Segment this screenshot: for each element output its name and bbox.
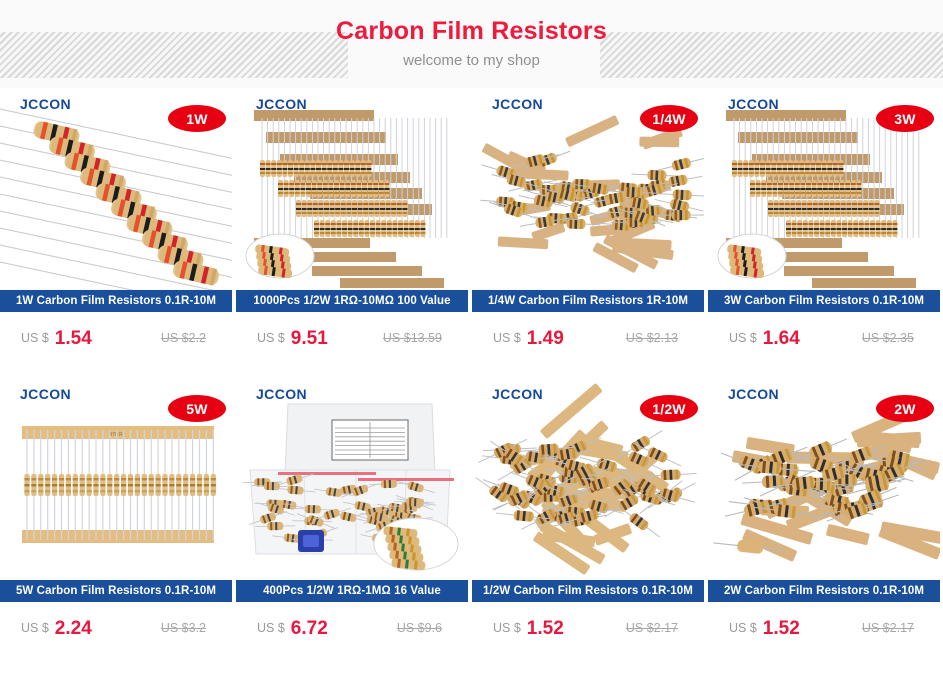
currency-label: US $ (493, 622, 521, 635)
currency-label: US $ (257, 622, 285, 635)
currency-label: US $ (729, 622, 757, 635)
product-card[interactable]: 470 RJCCON5W5W Carbon Film Resistors 0.1… (0, 378, 232, 655)
original-price: US $2.13 (626, 332, 678, 345)
power-rating-badge: 2W (876, 395, 934, 422)
power-rating-badge: 1W (168, 105, 226, 132)
original-price: US $2.35 (862, 332, 914, 345)
current-price: 9.51 (291, 329, 328, 348)
brand-logo: JCCON (492, 96, 543, 112)
currency-label: US $ (493, 332, 521, 345)
current-price: 1.49 (527, 329, 564, 348)
currency-label: US $ (257, 332, 285, 345)
brand-logo: JCCON (492, 386, 543, 402)
original-price: US $2.2 (161, 332, 206, 345)
product-grid: JCCON1W1W Carbon Film Resistors 0.1R-10M… (0, 88, 943, 655)
power-rating-badge: 1/4W (640, 105, 698, 132)
product-title: 1/2W Carbon Film Resistors 0.1R-10M (472, 580, 704, 602)
power-rating-badge: 1/2W (640, 395, 698, 422)
price-row: US $1.54US $2.2 (0, 312, 232, 365)
product-card[interactable]: JCCON1/4W1/4W Carbon Film Resistors 1R-1… (472, 88, 704, 365)
original-price: US $2.17 (626, 622, 678, 635)
brand-logo: JCCON (20, 386, 71, 402)
price-row: US $1.49US $2.13 (472, 312, 704, 365)
current-price: 1.64 (763, 329, 800, 348)
page-title: Carbon Film Resistors (0, 17, 943, 46)
brand-logo: JCCON (256, 96, 307, 112)
price-row: US $9.51US $13.59 (236, 312, 468, 365)
product-card[interactable]: JCCON1000Pcs 1/2W 1RΩ-10MΩ 100 ValueUS $… (236, 88, 468, 365)
price-row: US $1.64US $2.35 (708, 312, 940, 365)
current-price: 1.52 (763, 619, 800, 638)
current-price: 1.54 (55, 329, 92, 348)
original-price: US $3.2 (161, 622, 206, 635)
product-image[interactable] (236, 88, 468, 290)
current-price: 2.24 (55, 619, 92, 638)
brand-logo: JCCON (20, 96, 71, 112)
currency-label: US $ (21, 622, 49, 635)
brand-logo: JCCON (256, 386, 307, 402)
current-price: 6.72 (291, 619, 328, 638)
product-card[interactable]: JCCON1/2W1/2W Carbon Film Resistors 0.1R… (472, 378, 704, 655)
original-price: US $2.17 (862, 622, 914, 635)
product-title: 1/4W Carbon Film Resistors 1R-10M (472, 290, 704, 312)
power-rating-badge: 5W (168, 395, 226, 422)
product-card[interactable]: JCCON2W2W Carbon Film Resistors 0.1R-10M… (708, 378, 940, 655)
product-title: 2W Carbon Film Resistors 0.1R-10M (708, 580, 940, 602)
product-card[interactable]: JCCON3W3W Carbon Film Resistors 0.1R-10M… (708, 88, 940, 365)
currency-label: US $ (21, 332, 49, 345)
product-title: 1000Pcs 1/2W 1RΩ-10MΩ 100 Value (236, 290, 468, 312)
product-title: 400Pcs 1/2W 1RΩ-1MΩ 16 Value (236, 580, 468, 602)
price-row: US $1.52US $2.17 (708, 602, 940, 655)
brand-logo: JCCON (728, 386, 779, 402)
product-title: 3W Carbon Film Resistors 0.1R-10M (708, 290, 940, 312)
brand-logo: JCCON (728, 96, 779, 112)
currency-label: US $ (729, 332, 757, 345)
price-row: US $1.52US $2.17 (472, 602, 704, 655)
product-card[interactable]: JCCON1W1W Carbon Film Resistors 0.1R-10M… (0, 88, 232, 365)
product-title: 5W Carbon Film Resistors 0.1R-10M (0, 580, 232, 602)
power-rating-badge: 3W (876, 105, 934, 132)
current-price: 1.52 (527, 619, 564, 638)
original-price: US $9.6 (397, 622, 442, 635)
product-image[interactable] (236, 378, 468, 580)
page-header: Carbon Film Resistors welcome to my shop (0, 0, 943, 88)
product-card[interactable]: JCCON400Pcs 1/2W 1RΩ-1MΩ 16 ValueUS $6.7… (236, 378, 468, 655)
price-row: US $2.24US $3.2 (0, 602, 232, 655)
page-subtitle: welcome to my shop (0, 52, 943, 69)
original-price: US $13.59 (383, 332, 442, 345)
price-row: US $6.72US $9.6 (236, 602, 468, 655)
product-title: 1W Carbon Film Resistors 0.1R-10M (0, 290, 232, 312)
